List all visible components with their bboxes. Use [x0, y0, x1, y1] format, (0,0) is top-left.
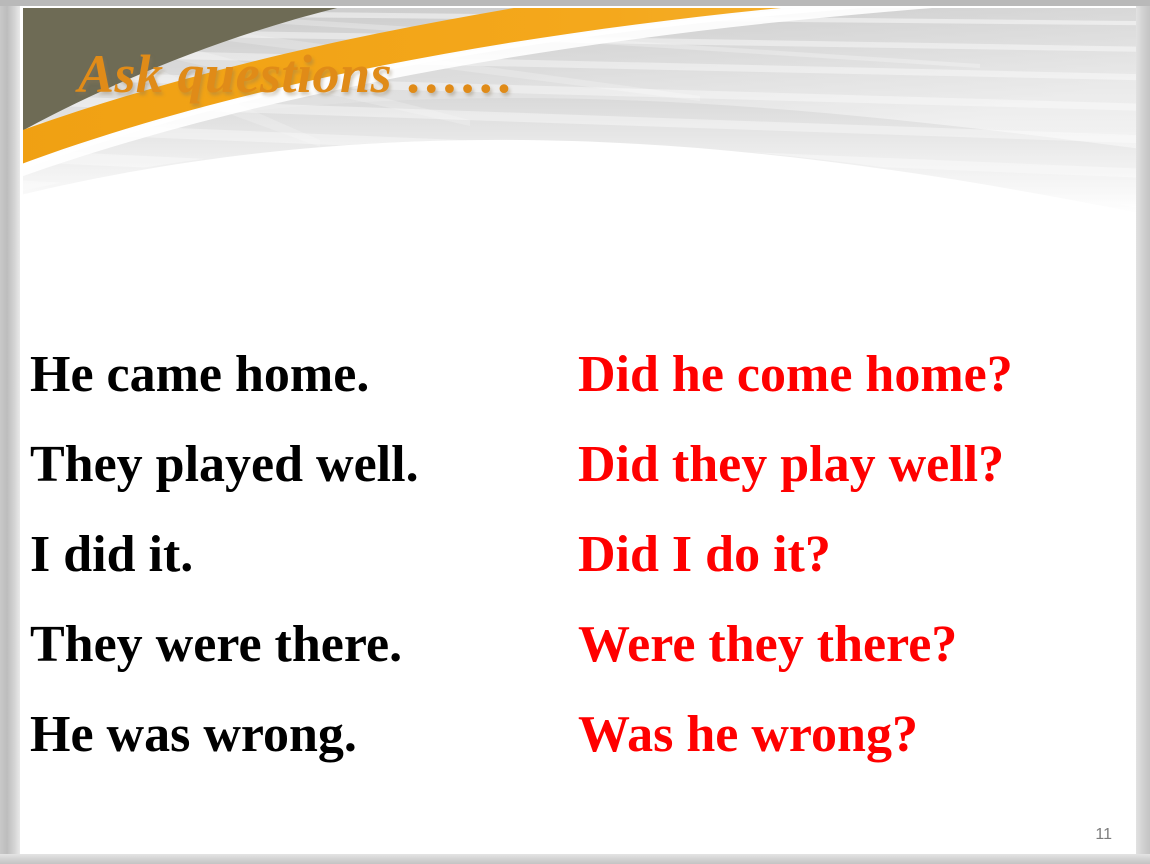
- slide-frame-top: [0, 0, 1150, 6]
- statement-text: He came home.: [30, 330, 578, 420]
- slide-frame-right: [1136, 0, 1150, 864]
- statement-text: They were there.: [30, 600, 578, 690]
- slide-frame-left: [0, 0, 20, 864]
- sentence-table: He came home. Did he come home? They pla…: [30, 330, 1120, 780]
- table-row: He was wrong. Was he wrong?: [30, 690, 1120, 780]
- page-number: 11: [1095, 826, 1112, 844]
- table-row: They were there. Were they there?: [30, 600, 1120, 690]
- table-row: He came home. Did he come home?: [30, 330, 1120, 420]
- statement-text: They played well.: [30, 420, 578, 510]
- question-text: Was he wrong?: [578, 690, 918, 780]
- question-text: Did they play well?: [578, 420, 1004, 510]
- question-text: Were they there?: [578, 600, 957, 690]
- presentation-slide: Ask questions …… He came home. Did he co…: [0, 0, 1150, 864]
- page-title: Ask questions ……: [78, 46, 515, 103]
- table-row: They played well. Did they play well?: [30, 420, 1120, 510]
- slide-frame-bottom: [0, 854, 1150, 864]
- table-row: I did it. Did I do it?: [30, 510, 1120, 600]
- statement-text: I did it.: [30, 510, 578, 600]
- statement-text: He was wrong.: [30, 690, 578, 780]
- question-text: Did he come home?: [578, 330, 1013, 420]
- question-text: Did I do it?: [578, 510, 831, 600]
